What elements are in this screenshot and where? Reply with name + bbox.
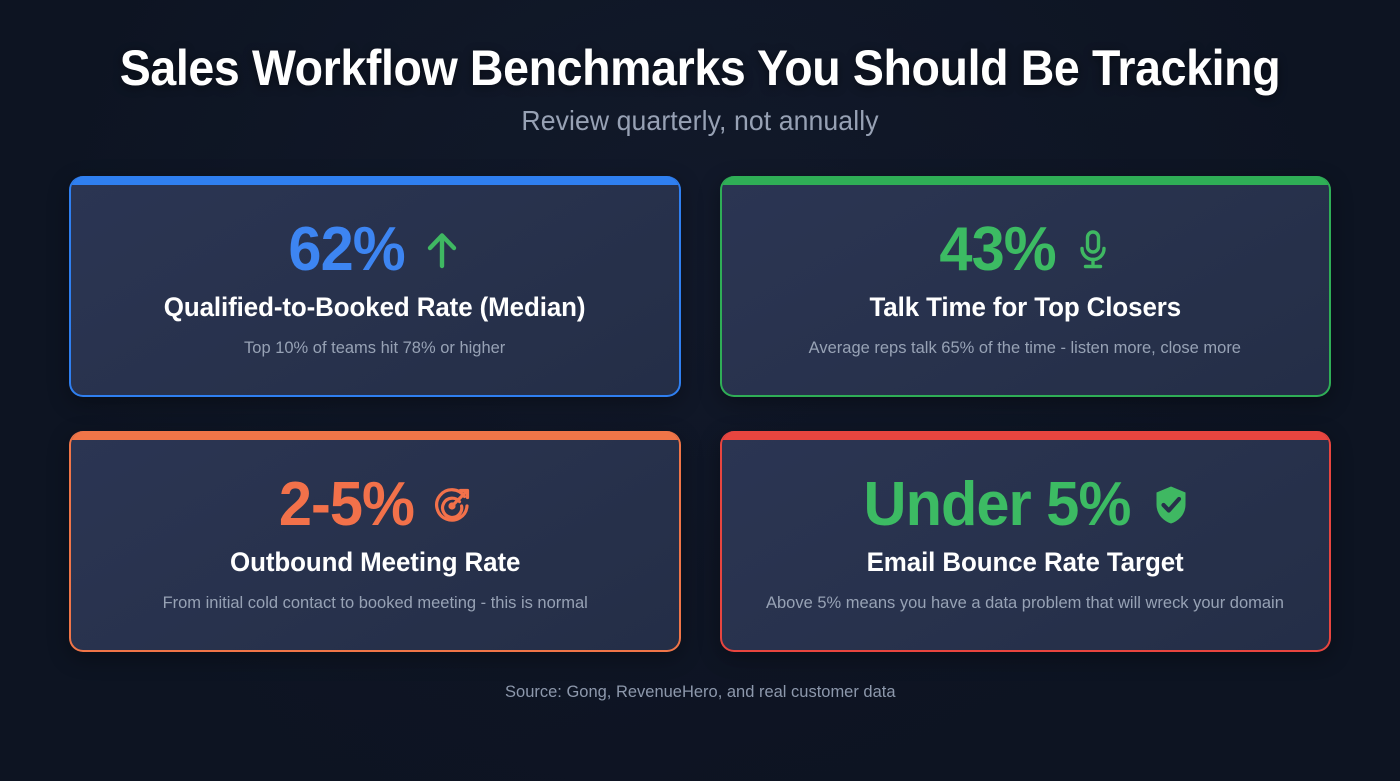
metric-description: Average reps talk 65% of the time - list… xyxy=(809,336,1241,359)
metric-value-row: 2-5% xyxy=(276,474,473,536)
target-dart-icon xyxy=(431,484,473,526)
page-title: Sales Workflow Benchmarks You Should Be … xyxy=(49,40,1351,96)
metric-label: Email Bounce Rate Target xyxy=(867,547,1184,578)
benchmark-card-email-bounce: Under 5% Email Bounce Rate Target Above … xyxy=(720,431,1332,652)
metric-description: Top 10% of teams hit 78% or higher xyxy=(244,336,505,359)
shield-check-icon xyxy=(1150,484,1192,526)
benchmark-card-outbound-meeting: 2-5% Outbound Meeting Rate From initial xyxy=(69,431,681,652)
benchmark-card-qualified-to-booked: 62% Qualified-to-Booked Rate (Median) To… xyxy=(69,176,681,397)
header: Sales Workflow Benchmarks You Should Be … xyxy=(0,0,1400,137)
arrow-up-icon xyxy=(421,229,463,271)
metric-value-row: 43% xyxy=(937,219,1114,281)
metric-label: Outbound Meeting Rate xyxy=(230,547,520,578)
metric-description: Above 5% means you have a data problem t… xyxy=(766,591,1284,614)
microphone-icon xyxy=(1072,229,1114,271)
page-subtitle: Review quarterly, not annually xyxy=(35,105,1365,137)
metric-value-row: 62% xyxy=(286,219,463,281)
benchmark-card-grid: 62% Qualified-to-Booked Rate (Median) To… xyxy=(69,176,1331,652)
metric-description: From initial cold contact to booked meet… xyxy=(162,591,587,614)
metric-value: 2-5% xyxy=(279,474,414,536)
infographic-poster: Sales Workflow Benchmarks You Should Be … xyxy=(0,0,1400,781)
metric-value: 43% xyxy=(939,219,1055,281)
metric-value: Under 5% xyxy=(864,474,1131,536)
benchmark-card-talk-time: 43% Talk Time for Top Closers Average re… xyxy=(720,176,1332,397)
metric-value-row: Under 5% xyxy=(858,474,1192,536)
metric-value: 62% xyxy=(289,219,405,281)
metric-label: Qualified-to-Booked Rate (Median) xyxy=(164,292,586,323)
metric-label: Talk Time for Top Closers xyxy=(869,292,1181,323)
source-footer: Source: Gong, RevenueHero, and real cust… xyxy=(505,682,896,702)
